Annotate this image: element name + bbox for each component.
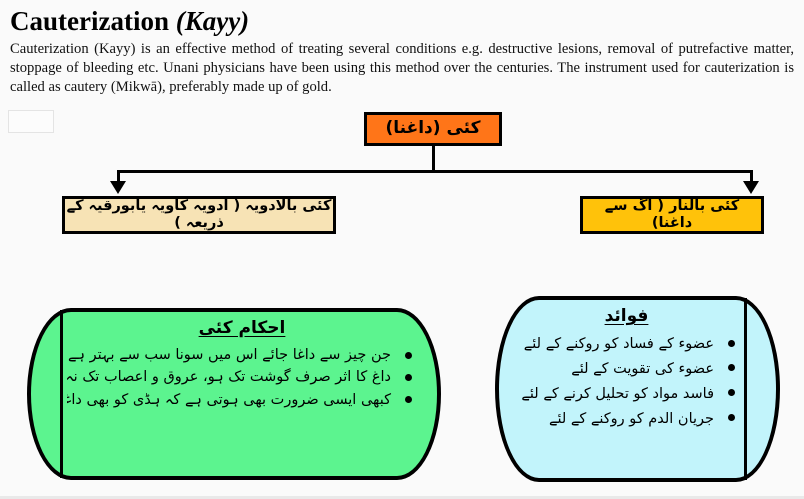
panel-fawaid-list: عضوء کے فساد کو روکنے کے لئے عضوء کی تقو… [513, 332, 740, 432]
flowchart-branch-kayy-bin-naar[interactable]: کئی بالنار ( آگ سے داغنا) [580, 196, 764, 234]
page-canvas: Cauterization (Kayy) Cauterization (Kayy… [0, 0, 804, 499]
list-item: عضوء کے فساد کو روکنے کے لئے [513, 332, 740, 357]
list-item: عضوء کی تقویت کے لئے [513, 357, 740, 382]
panel-fawaid: فوائد عضوء کے فساد کو روکنے کے لئے عضوء … [495, 296, 780, 482]
connector-stem [432, 146, 435, 172]
panel-ahkam-kayy: احکام کئی جن چیز سے داغا جائے اس میں سون… [27, 308, 441, 480]
list-item: داغ کا اثر صرف گوشت تک ہو، عروق و اعصاب … [67, 366, 417, 388]
list-item-text: فاسد مواد کو تحلیل کرنے کے لئے [521, 386, 714, 402]
empty-placeholder-box [8, 110, 54, 133]
panel-ahkam-list: جن چیز سے داغا جائے اس میں سونا سب سے بہ… [67, 344, 417, 411]
list-item: کبھی ایسی ضرورت بھی ہوتی ہے کہ ہڈی کو بھ… [67, 389, 417, 411]
panel-ahkam-heading: احکام کئی [67, 318, 417, 338]
bullet-icon [728, 364, 735, 371]
panel-ahkam-divider [60, 310, 63, 478]
bullet-icon [405, 374, 412, 381]
list-item: فاسد مواد کو تحلیل کرنے کے لئے [513, 382, 740, 407]
list-item-text: عضوء کی تقویت کے لئے [571, 361, 714, 377]
flowchart-root-node[interactable]: کئی (داغنا) [364, 112, 502, 146]
page-title-transliteration: (Kayy) [176, 6, 249, 36]
bullet-icon [405, 352, 412, 359]
connector-horizontal [117, 170, 753, 173]
arrowhead-right-icon [743, 181, 759, 194]
list-item: جریان الدم کو روکنے کے لئے [513, 407, 740, 432]
list-item-text: جن چیز سے داغا جائے اس میں سونا سب سے بہ… [67, 347, 391, 363]
list-item-text: کبھی ایسی ضرورت بھی ہوتی ہے کہ ہڈی کو بھ… [67, 392, 391, 408]
intro-paragraph: Cauterization (Kayy) is an effective met… [10, 40, 794, 97]
panel-fawaid-divider [744, 298, 747, 480]
bullet-icon [728, 389, 735, 396]
list-item-text: جریان الدم کو روکنے کے لئے [549, 411, 714, 427]
list-item-text: عضوء کے فساد کو روکنے کے لئے [524, 336, 714, 352]
bullet-icon [728, 414, 735, 421]
page-title: Cauterization (Kayy) [10, 6, 249, 37]
page-title-main: Cauterization [10, 6, 169, 36]
bullet-icon [728, 340, 735, 347]
panel-ahkam-content: احکام کئی جن چیز سے داغا جائے اس میں سون… [67, 314, 417, 474]
arrowhead-left-icon [110, 181, 126, 194]
bullet-icon [405, 396, 412, 403]
panel-fawaid-content: فوائد عضوء کے فساد کو روکنے کے لئے عضوء … [513, 302, 740, 476]
list-item: جن چیز سے داغا جائے اس میں سونا سب سے بہ… [67, 344, 417, 366]
list-item-text: داغ کا اثر صرف گوشت تک ہو، عروق و اعصاب … [67, 369, 391, 385]
panel-fawaid-heading: فوائد [513, 306, 740, 326]
flowchart-branch-kayy-bil-adwiya[interactable]: کئی بالادویہ ( ادویہ کاویہ یابورقیہ کے ذ… [62, 196, 336, 234]
